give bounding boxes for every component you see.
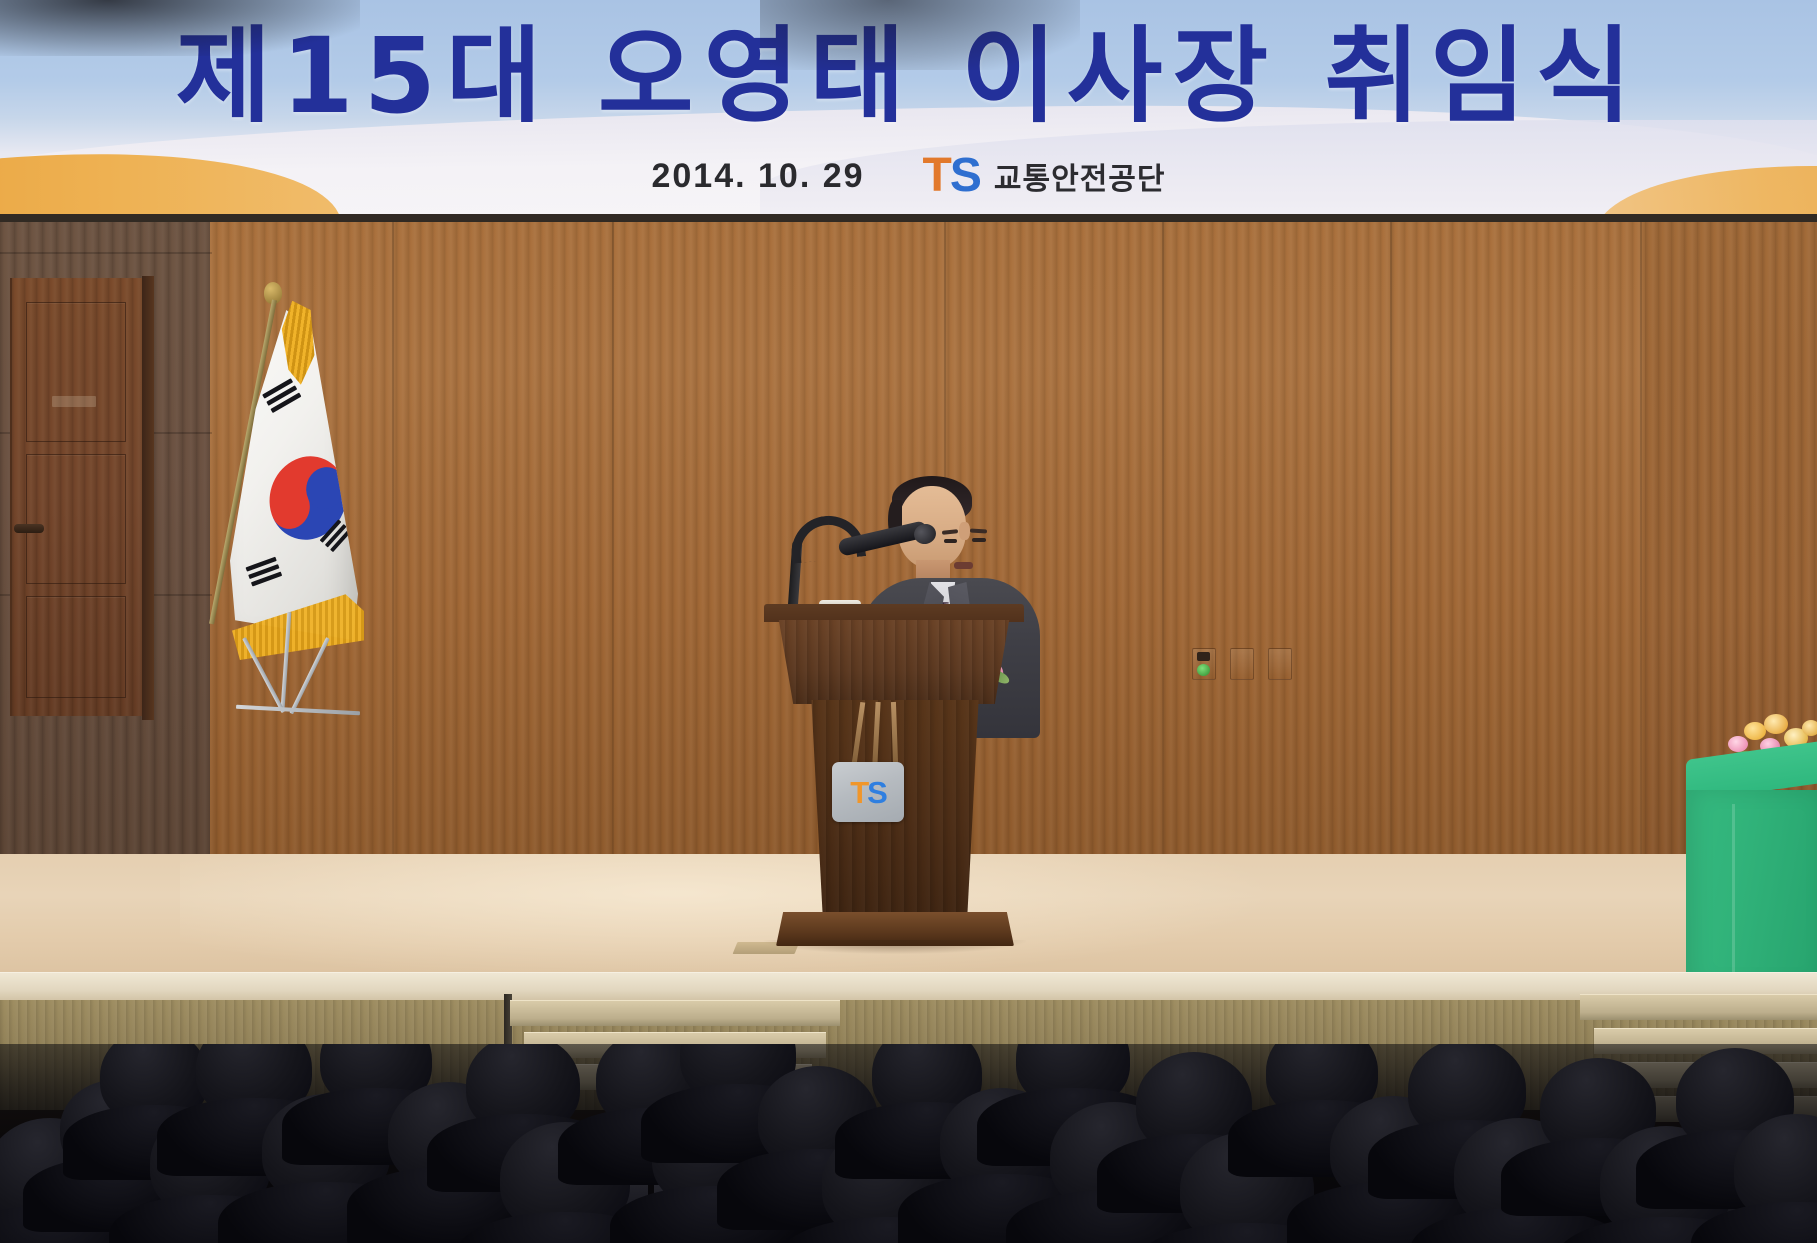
stand-leg: [242, 637, 285, 713]
stand-leg: [236, 705, 360, 715]
trigram-geon: [262, 378, 302, 414]
door-handle[interactable]: [14, 524, 44, 533]
ts-logo-s: S: [950, 152, 980, 200]
flower-blossom: [1764, 714, 1788, 734]
flower-blossom: [1744, 722, 1766, 740]
table-cloth-fold: [1732, 804, 1735, 984]
banner-subtitle-row: 2014. 10. 29 TS 교통안전공단: [0, 152, 1817, 200]
podium-logo-t: T: [850, 777, 867, 808]
wall-switch-box[interactable]: [1230, 648, 1254, 680]
banner-brand: TS 교통안전공단: [923, 152, 1166, 200]
stage-floor-highlight: [180, 854, 1280, 984]
podium-front-face: [774, 620, 1014, 704]
podium: TS: [764, 604, 1024, 954]
indicator-on-icon: [1197, 664, 1210, 676]
wall-switch-indicator-box[interactable]: [1192, 648, 1216, 680]
flower-blossom: [1802, 720, 1817, 736]
door-panel: [26, 454, 126, 584]
speaker-mouth: [954, 562, 973, 569]
banner-date: 2014. 10. 29: [651, 157, 864, 196]
ts-logo-t: T: [923, 152, 950, 200]
speaker-eyebrow: [942, 529, 958, 535]
flower-blossom: [1728, 736, 1748, 752]
podium-decor-stripes: [852, 702, 910, 764]
flag-stand: [222, 612, 422, 722]
wall-switch-panel[interactable]: [1192, 648, 1300, 680]
stage-step: [1580, 994, 1817, 1020]
speaker-eye: [944, 539, 957, 543]
banner-shadow-center: [760, 0, 1080, 70]
stage-step: [510, 1000, 840, 1026]
audience: [0, 1044, 1817, 1243]
audience-head: [466, 1044, 580, 1134]
podium-shadow: [764, 940, 1026, 954]
indicator-off-icon: [1197, 652, 1210, 661]
door-panel: [26, 302, 126, 442]
speaker-ear: [959, 522, 970, 540]
wall-seam: [1640, 222, 1642, 862]
stand-leg: [289, 637, 329, 714]
podium-logo-s: S: [867, 777, 886, 808]
ceremony-banner: 제15대 오영태 이사장 취임식 2014. 10. 29 TS 교통안전공단: [0, 0, 1817, 214]
podium-top-surface: [764, 604, 1024, 622]
audience-head: [1016, 1044, 1130, 1108]
banner-shadow-left: [0, 0, 360, 56]
wall-seam: [612, 222, 614, 862]
stand-leg: [281, 612, 292, 708]
organization-name: 교통안전공단: [994, 154, 1166, 198]
door-panel: [26, 596, 126, 698]
wall-switch-box[interactable]: [1268, 648, 1292, 680]
podium-ts-logo-icon: TS: [850, 777, 886, 808]
wall-tile-seam: [0, 252, 212, 254]
korean-flag: [222, 282, 422, 702]
ts-logo-icon: TS: [923, 152, 980, 200]
door-sign: [52, 396, 96, 407]
auditorium-photograph: 제15대 오영태 이사장 취임식 2014. 10. 29 TS 교통안전공단: [0, 0, 1817, 1243]
trigram-gon: [246, 557, 283, 588]
green-draped-table: [1686, 760, 1817, 1000]
wall-seam: [1162, 222, 1164, 862]
wall-seam: [1390, 222, 1392, 862]
table-cloth-front: [1686, 790, 1817, 986]
stage-door[interactable]: [10, 278, 142, 716]
speaker-eyebrow: [970, 529, 987, 534]
podium-logo-plate: TS: [832, 762, 904, 822]
door-frame: [142, 276, 154, 720]
speaker-eye: [972, 538, 986, 542]
